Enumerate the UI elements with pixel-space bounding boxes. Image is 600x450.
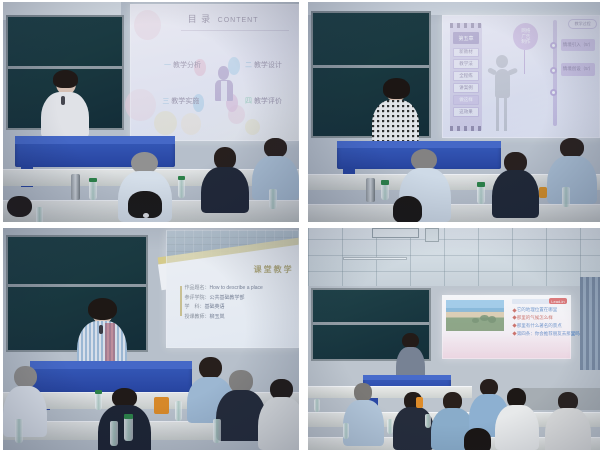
water-bottle xyxy=(175,401,183,421)
projection-screen: Lead-in 它的地理位置在哪里 那里的气候怎么样 那里有什么著名的景点 第四… xyxy=(442,295,570,359)
water-bottle xyxy=(477,185,485,205)
projection-screen: 课堂教学 作品题名：How to describe a place 参评学院：公… xyxy=(166,230,299,348)
ac-vent xyxy=(372,228,419,238)
water-bottle xyxy=(269,189,277,209)
audience-member xyxy=(451,428,504,450)
photo-collage: 目 录 CONTENT 一 教学分析 二 教学设计 xyxy=(0,0,600,450)
thermos xyxy=(71,174,80,200)
audience-member xyxy=(381,196,434,222)
ceiling xyxy=(308,228,600,288)
orange-cup xyxy=(154,397,169,415)
water-bottle xyxy=(95,392,103,410)
water-bottle xyxy=(15,419,23,443)
photo-panel-top-right: 第五章 新教材 教学法 全程练 讲案例 做这样 这效果 网络 广告 制作 xyxy=(308,2,600,222)
audience-member xyxy=(115,191,174,222)
water-bottle xyxy=(387,419,393,435)
presenter xyxy=(41,72,88,138)
water-bottle xyxy=(425,414,431,427)
water-bottle xyxy=(213,419,221,443)
water-bottle xyxy=(178,178,186,198)
audience-member xyxy=(547,138,597,204)
photo-panel-bottom-right: Lead-in 它的地理位置在哪里 那里的气候怎么样 那里有什么著名的景点 第四… xyxy=(308,228,600,450)
water-bottle xyxy=(314,399,320,412)
audience-member xyxy=(545,392,592,450)
water-bottle xyxy=(562,187,570,207)
ceiling-light xyxy=(343,257,407,261)
water-bottle xyxy=(343,423,349,439)
audience-member xyxy=(492,152,539,218)
projection-screen: 第五章 新教材 教学法 全程练 讲案例 做这样 这效果 网络 广告 制作 xyxy=(442,15,600,138)
water-bottle xyxy=(89,180,97,200)
water-bottle xyxy=(110,421,118,445)
photo-panel-bottom-left: 课堂教学 作品题名：How to describe a place 参评学院：公… xyxy=(3,228,299,450)
orange-cup xyxy=(416,397,423,408)
audience-member xyxy=(3,196,39,222)
water-bottle xyxy=(36,207,44,222)
ac-duct xyxy=(425,228,440,242)
projection-screen: 目 录 CONTENT 一 教学分析 二 教学设计 xyxy=(130,4,299,140)
presenter xyxy=(372,81,419,143)
desk-row xyxy=(308,204,600,222)
audience-member xyxy=(258,379,299,450)
audience-member xyxy=(201,147,248,213)
audience-member xyxy=(3,366,47,437)
water-bottle xyxy=(124,417,132,441)
audience-member xyxy=(343,383,384,445)
thermos xyxy=(366,178,375,202)
window-curtain xyxy=(580,277,600,370)
water-bottle xyxy=(381,182,389,200)
photo-panel-top-left: 目 录 CONTENT 一 教学分析 二 教学设计 xyxy=(3,2,299,222)
